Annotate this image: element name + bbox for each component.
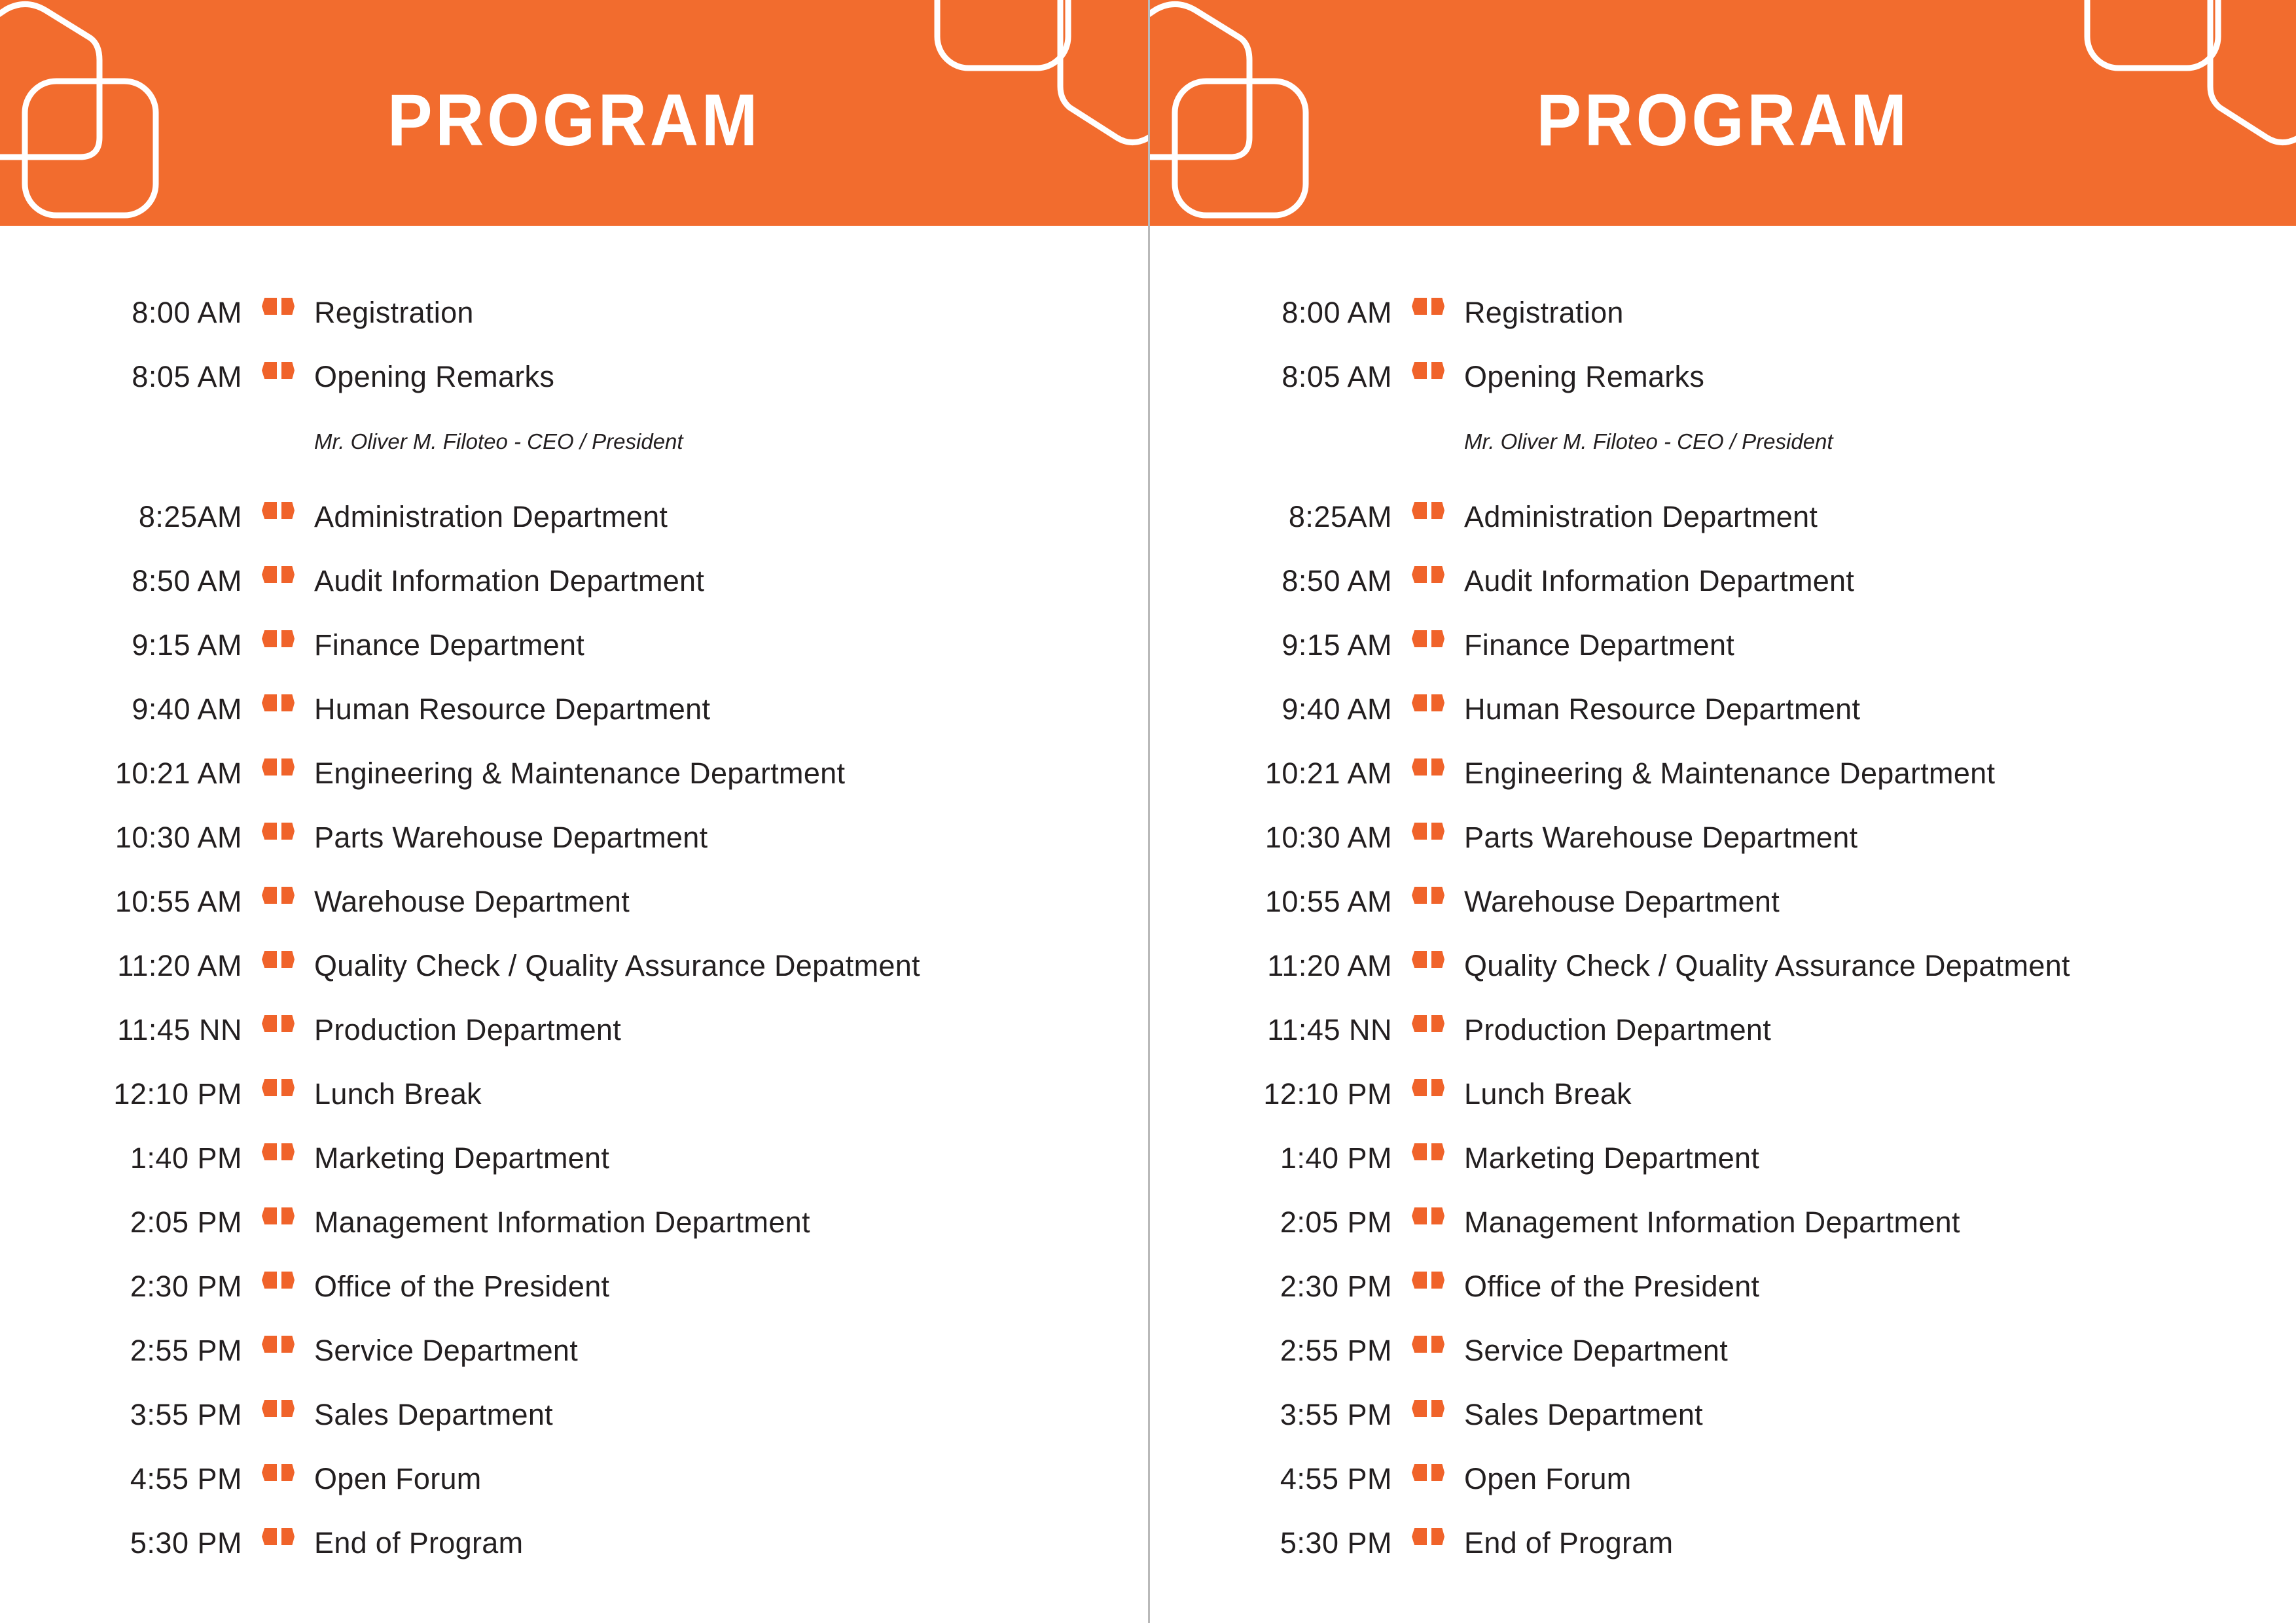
bullet-marker-icon: [1392, 1015, 1464, 1032]
bullet-marker-icon: [1392, 1143, 1464, 1160]
schedule-row: 11:45 NN Production Department: [1150, 1013, 2296, 1077]
schedule-row: 10:30 AM Parts Warehouse Department: [1150, 821, 2296, 885]
bullet-marker-icon: [1392, 1464, 1464, 1481]
bullet-marker-icon: [1392, 1207, 1464, 1224]
schedule-time: 9:40 AM: [1150, 692, 1392, 726]
schedule-time: 2:30 PM: [0, 1270, 242, 1304]
bullet-marker-icon: [242, 951, 314, 968]
schedule-title: Finance Department: [314, 628, 1148, 662]
schedule-time: 12:10 PM: [1150, 1077, 1392, 1111]
bullet-marker-icon: [242, 1272, 314, 1289]
schedule-title: Production Department: [314, 1013, 1148, 1047]
schedule-time: 10:21 AM: [0, 757, 242, 791]
schedule-subtitle-row: Mr. Oliver M. Filoteo - CEO / President: [1150, 424, 2296, 473]
schedule-time: 8:50 AM: [1150, 564, 1392, 598]
bullet-marker-icon: [1392, 1272, 1464, 1289]
subtitle-spacer: [0, 424, 314, 473]
program-spread: PROGRAM 8:00 AM Registration 8:05 AM Ope…: [0, 0, 2296, 1623]
schedule-row: 10:30 AM Parts Warehouse Department: [0, 821, 1148, 885]
schedule-title: Engineering & Maintenance Department: [314, 757, 1148, 791]
schedule-row: 4:55 PM Open Forum: [1150, 1462, 2296, 1526]
schedule-title: Management Information Department: [1464, 1205, 2296, 1240]
schedule-row: 8:00 AM Registration: [1150, 296, 2296, 360]
schedule-row: 4:55 PM Open Forum: [0, 1462, 1148, 1526]
schedule-time: 8:25AM: [1150, 500, 1392, 534]
schedule-row: 1:40 PM Marketing Department: [0, 1141, 1148, 1205]
schedule-row: 11:45 NN Production Department: [0, 1013, 1148, 1077]
schedule-title: Marketing Department: [314, 1141, 1148, 1175]
schedule-time: 2:05 PM: [0, 1205, 242, 1240]
bullet-marker-icon: [1392, 1336, 1464, 1353]
schedule-title: End of Program: [314, 1526, 1148, 1560]
bullet-marker-icon: [242, 887, 314, 904]
schedule-title: Sales Department: [314, 1398, 1148, 1432]
schedule-row: 3:55 PM Sales Department: [0, 1398, 1148, 1462]
schedule-row: 12:10 PM Lunch Break: [0, 1077, 1148, 1141]
bullet-marker-icon: [1392, 694, 1464, 711]
schedule-time: 9:40 AM: [0, 692, 242, 726]
schedule-time: 8:00 AM: [1150, 296, 1392, 330]
schedule-time: 2:30 PM: [1150, 1270, 1392, 1304]
schedule-section-gap: [1150, 473, 2296, 500]
schedule-title: Service Department: [1464, 1334, 2296, 1368]
schedule-time: 10:30 AM: [1150, 821, 1392, 855]
schedule-title: Open Forum: [314, 1462, 1148, 1496]
schedule-title: Warehouse Department: [1464, 885, 2296, 919]
schedule-time: 10:30 AM: [0, 821, 242, 855]
schedule-title: Lunch Break: [1464, 1077, 2296, 1111]
schedule-time: 11:45 NN: [0, 1013, 242, 1047]
bullet-marker-icon: [1392, 566, 1464, 583]
schedule-time: 4:55 PM: [0, 1462, 242, 1496]
schedule-time: 12:10 PM: [0, 1077, 242, 1111]
schedule-time: 3:55 PM: [0, 1398, 242, 1432]
schedule-row: 10:55 AM Warehouse Department: [0, 885, 1148, 949]
schedule-row: 9:15 AM Finance Department: [1150, 628, 2296, 692]
schedule-title: Open Forum: [1464, 1462, 2296, 1496]
schedule-title: Lunch Break: [314, 1077, 1148, 1111]
schedule-row: 2:05 PM Management Information Departmen…: [0, 1205, 1148, 1270]
schedule-title: Human Resource Department: [1464, 692, 2296, 726]
schedule-title: Registration: [1464, 296, 2296, 330]
schedule-row: 9:15 AM Finance Department: [0, 628, 1148, 692]
schedule-title: Administration Department: [1464, 500, 2296, 534]
schedule-time: 2:05 PM: [1150, 1205, 1392, 1240]
schedule-row: 2:55 PM Service Department: [0, 1334, 1148, 1398]
schedule-title: Registration: [314, 296, 1148, 330]
schedule-time: 8:50 AM: [0, 564, 242, 598]
schedule-list-right: 8:00 AM Registration 8:05 AM Opening Rem…: [1150, 296, 2296, 1590]
schedule-row: 2:30 PM Office of the President: [0, 1270, 1148, 1334]
schedule-row: 9:40 AM Human Resource Department: [1150, 692, 2296, 757]
schedule-row: 2:05 PM Management Information Departmen…: [1150, 1205, 2296, 1270]
schedule-title: Audit Information Department: [314, 564, 1148, 598]
schedule-row: 10:21 AM Engineering & Maintenance Depar…: [1150, 757, 2296, 821]
schedule-title: Marketing Department: [1464, 1141, 2296, 1175]
schedule-time: 1:40 PM: [0, 1141, 242, 1175]
schedule-row: 10:55 AM Warehouse Department: [1150, 885, 2296, 949]
bullet-marker-icon: [242, 1464, 314, 1481]
bullet-marker-icon: [1392, 630, 1464, 647]
bullet-marker-icon: [242, 1336, 314, 1353]
page-title: PROGRAM: [1196, 84, 2250, 157]
schedule-title: Human Resource Department: [314, 692, 1148, 726]
bullet-marker-icon: [242, 1528, 314, 1545]
schedule-row: 2:55 PM Service Department: [1150, 1334, 2296, 1398]
bullet-marker-icon: [1392, 362, 1464, 379]
bullet-marker-icon: [242, 823, 314, 840]
bullet-marker-icon: [1392, 758, 1464, 776]
bullet-marker-icon: [1392, 951, 1464, 968]
program-header-left: PROGRAM: [0, 0, 1148, 226]
schedule-time: 8:25AM: [0, 500, 242, 534]
bullet-marker-icon: [242, 1143, 314, 1160]
schedule-time: 9:15 AM: [1150, 628, 1392, 662]
bullet-marker-icon: [242, 1400, 314, 1417]
bullet-marker-icon: [1392, 823, 1464, 840]
schedule-row: 11:20 AM Quality Check / Quality Assuran…: [1150, 949, 2296, 1013]
schedule-title: Audit Information Department: [1464, 564, 2296, 598]
schedule-time: 1:40 PM: [1150, 1141, 1392, 1175]
schedule-title: Parts Warehouse Department: [314, 821, 1148, 855]
schedule-time: 2:55 PM: [0, 1334, 242, 1368]
schedule-row: 3:55 PM Sales Department: [1150, 1398, 2296, 1462]
schedule-title: Finance Department: [1464, 628, 2296, 662]
bullet-marker-icon: [242, 694, 314, 711]
schedule-row: 10:21 AM Engineering & Maintenance Depar…: [0, 757, 1148, 821]
page-title: PROGRAM: [46, 84, 1102, 157]
schedule-title: Administration Department: [314, 500, 1148, 534]
schedule-row: 9:40 AM Human Resource Department: [0, 692, 1148, 757]
schedule-list-left: 8:00 AM Registration 8:05 AM Opening Rem…: [0, 296, 1148, 1590]
bullet-marker-icon: [1392, 887, 1464, 904]
schedule-time: 8:05 AM: [0, 360, 242, 394]
bullet-marker-icon: [1392, 1400, 1464, 1417]
bullet-marker-icon: [242, 758, 314, 776]
schedule-time: 4:55 PM: [1150, 1462, 1392, 1496]
program-header-right: PROGRAM: [1150, 0, 2296, 226]
bullet-marker-icon: [242, 362, 314, 379]
schedule-time: 3:55 PM: [1150, 1398, 1392, 1432]
schedule-title: Office of the President: [314, 1270, 1148, 1304]
schedule-time: 11:20 AM: [1150, 949, 1392, 983]
bullet-marker-icon: [1392, 1528, 1464, 1545]
schedule-title: Service Department: [314, 1334, 1148, 1368]
schedule-title: Opening Remarks: [1464, 360, 2296, 394]
schedule-subtitle: Mr. Oliver M. Filoteo - CEO / President: [1464, 424, 1833, 473]
bullet-marker-icon: [242, 566, 314, 583]
schedule-row: 11:20 AM Quality Check / Quality Assuran…: [0, 949, 1148, 1013]
bullet-marker-icon: [1392, 1079, 1464, 1096]
schedule-time: 8:05 AM: [1150, 360, 1392, 394]
schedule-time: 11:20 AM: [0, 949, 242, 983]
subtitle-spacer: [1150, 424, 1464, 473]
schedule-row: 12:10 PM Lunch Break: [1150, 1077, 2296, 1141]
schedule-row: 8:25AM Administration Department: [1150, 500, 2296, 564]
schedule-row: 8:05 AM Opening Remarks: [1150, 360, 2296, 424]
bullet-marker-icon: [1392, 502, 1464, 519]
schedule-row: 5:30 PM End of Program: [1150, 1526, 2296, 1590]
schedule-time: 10:55 AM: [0, 885, 242, 919]
program-panel-right: PROGRAM 8:00 AM Registration 8:05 AM Ope…: [1148, 0, 2296, 1623]
schedule-time: 9:15 AM: [0, 628, 242, 662]
schedule-row: 8:50 AM Audit Information Department: [1150, 564, 2296, 628]
bullet-marker-icon: [242, 630, 314, 647]
schedule-subtitle: Mr. Oliver M. Filoteo - CEO / President: [314, 424, 683, 473]
schedule-title: Quality Check / Quality Assurance Depatm…: [314, 949, 1148, 983]
schedule-title: Office of the President: [1464, 1270, 2296, 1304]
schedule-row: 5:30 PM End of Program: [0, 1526, 1148, 1590]
schedule-row: 8:25AM Administration Department: [0, 500, 1148, 564]
schedule-title: Engineering & Maintenance Department: [1464, 757, 2296, 791]
schedule-row: 2:30 PM Office of the President: [1150, 1270, 2296, 1334]
schedule-title: End of Program: [1464, 1526, 2296, 1560]
schedule-title: Sales Department: [1464, 1398, 2296, 1432]
bullet-marker-icon: [242, 1207, 314, 1224]
schedule-row: 1:40 PM Marketing Department: [1150, 1141, 2296, 1205]
bullet-marker-icon: [242, 298, 314, 315]
schedule-row: 8:50 AM Audit Information Department: [0, 564, 1148, 628]
schedule-row: 8:05 AM Opening Remarks: [0, 360, 1148, 424]
schedule-title: Management Information Department: [314, 1205, 1148, 1240]
schedule-title: Quality Check / Quality Assurance Depatm…: [1464, 949, 2296, 983]
schedule-time: 2:55 PM: [1150, 1334, 1392, 1368]
bullet-marker-icon: [1392, 298, 1464, 315]
schedule-time: 5:30 PM: [0, 1526, 242, 1560]
schedule-row: 8:00 AM Registration: [0, 296, 1148, 360]
program-panel-left: PROGRAM 8:00 AM Registration 8:05 AM Ope…: [0, 0, 1148, 1623]
schedule-title: Parts Warehouse Department: [1464, 821, 2296, 855]
schedule-section-gap: [0, 473, 1148, 500]
schedule-time: 11:45 NN: [1150, 1013, 1392, 1047]
schedule-time: 5:30 PM: [1150, 1526, 1392, 1560]
schedule-title: Production Department: [1464, 1013, 2296, 1047]
bullet-marker-icon: [242, 502, 314, 519]
schedule-time: 10:55 AM: [1150, 885, 1392, 919]
bullet-marker-icon: [242, 1015, 314, 1032]
schedule-time: 8:00 AM: [0, 296, 242, 330]
bullet-marker-icon: [242, 1079, 314, 1096]
schedule-time: 10:21 AM: [1150, 757, 1392, 791]
schedule-subtitle-row: Mr. Oliver M. Filoteo - CEO / President: [0, 424, 1148, 473]
schedule-title: Opening Remarks: [314, 360, 1148, 394]
schedule-title: Warehouse Department: [314, 885, 1148, 919]
